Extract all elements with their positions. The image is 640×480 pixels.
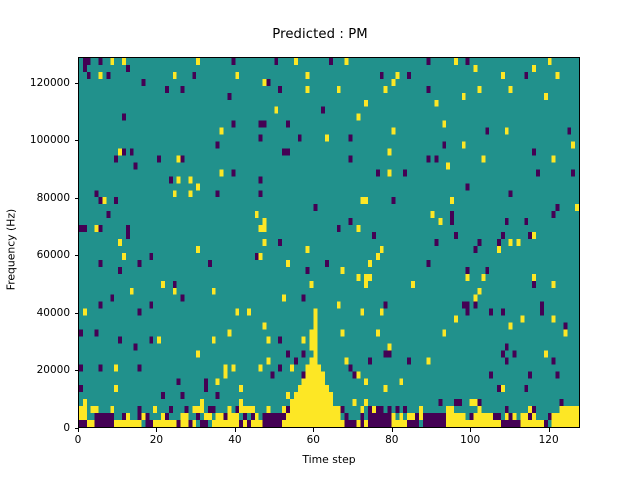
x-tick-mark	[313, 428, 314, 432]
x-axis-label: Time step	[78, 453, 580, 466]
y-tick-mark	[75, 313, 79, 314]
x-tick-label: 0	[75, 434, 82, 446]
x-tick-label: 40	[228, 434, 241, 446]
y-tick-label: 0	[63, 422, 70, 434]
y-tick-label: 80000	[37, 192, 70, 204]
y-tick-label: 60000	[37, 249, 70, 261]
y-axis-label: Frequency (Hz)	[5, 159, 18, 339]
x-tick-mark	[156, 428, 157, 432]
y-tick-mark	[75, 83, 79, 84]
heatmap-image	[79, 58, 579, 427]
x-tick-label: 60	[307, 434, 320, 446]
y-tick-mark	[75, 428, 79, 429]
x-tick-mark	[392, 428, 393, 432]
y-tick-mark	[75, 370, 79, 371]
y-tick-mark	[75, 198, 79, 199]
x-tick-label: 80	[385, 434, 398, 446]
x-tick-mark	[470, 428, 471, 432]
y-tick-label: 100000	[30, 134, 70, 146]
x-tick-label: 120	[539, 434, 559, 446]
x-tick-label: 20	[150, 434, 163, 446]
heatmap-plot-area[interactable]	[78, 57, 580, 428]
x-tick-mark	[235, 428, 236, 432]
page-title: Predicted : PM	[0, 27, 640, 42]
y-tick-label: 20000	[37, 364, 70, 376]
figure-canvas: Predicted : PM 020406080100120 020000400…	[0, 0, 640, 480]
y-tick-mark	[75, 140, 79, 141]
x-tick-label: 100	[460, 434, 480, 446]
y-tick-mark	[75, 255, 79, 256]
x-tick-mark	[78, 428, 79, 432]
y-tick-label: 120000	[30, 77, 70, 89]
x-tick-mark	[549, 428, 550, 432]
y-tick-label: 40000	[37, 307, 70, 319]
